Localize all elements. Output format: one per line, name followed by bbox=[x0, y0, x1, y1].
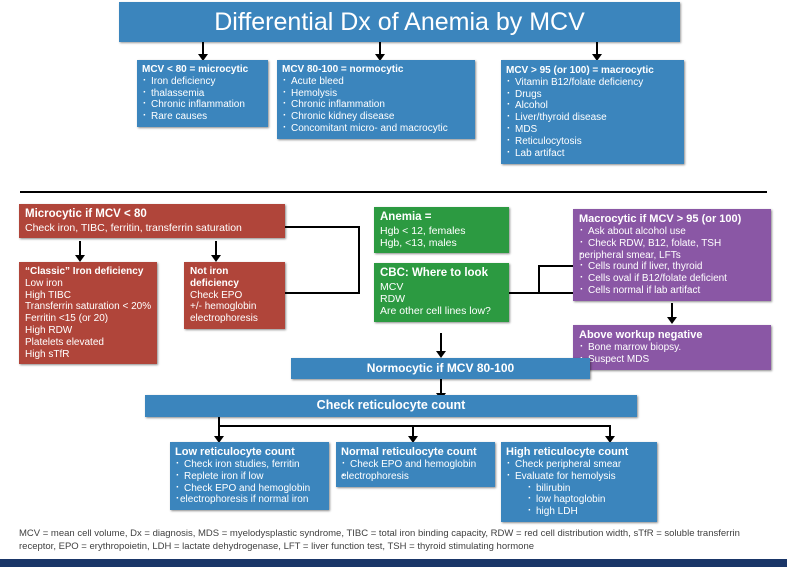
list-item: High TIBC bbox=[25, 290, 151, 302]
page-title: Differential Dx of Anemia by MCV bbox=[119, 2, 680, 42]
list-item-continuation: electrophoresis if normal iron bbox=[175, 494, 324, 506]
box-high-reticulocyte-count: High reticulocyte count Check peripheral… bbox=[501, 442, 657, 522]
list-item: electrophoresis bbox=[190, 313, 279, 325]
list-item: Chronic inflammation bbox=[142, 99, 263, 111]
list-item: Concomitant micro- and macrocytic bbox=[282, 123, 470, 135]
legend-line-2: receptor, EPO = erythropoietin, LDH = la… bbox=[19, 541, 771, 554]
box-header: “Classic” Iron deficiency bbox=[25, 266, 151, 278]
connector-microcytic-right bbox=[285, 226, 360, 228]
box-subitems: bilirubin low haptoglobin high LDH bbox=[506, 483, 652, 518]
box-cbc-where-to-look: CBC: Where to look MCV RDW Are other cel… bbox=[374, 263, 509, 322]
box-header: Macrocytic if MCV > 95 (or 100) bbox=[579, 213, 765, 226]
list-item: Hgb, <13, males bbox=[380, 237, 503, 249]
list-item-continuation: peripheral smear, LFTs bbox=[579, 250, 765, 262]
box-header: CBC: Where to look bbox=[380, 267, 503, 281]
list-item: Platelets elevated bbox=[25, 337, 151, 349]
list-item: Chronic inflammation bbox=[282, 99, 470, 111]
list-item: Hgb < 12, females bbox=[380, 225, 503, 237]
list-item: Check EPO bbox=[190, 290, 279, 302]
arrow-microcytic-to-not-iron bbox=[211, 255, 221, 262]
list-item: Cells normal if lab artifact bbox=[579, 285, 765, 297]
list-item: +/- hemoglobin bbox=[190, 301, 279, 313]
list-item: Acute bleed bbox=[282, 76, 470, 88]
connector-cbc-right bbox=[509, 292, 573, 294]
box-header: Above workup negative bbox=[579, 329, 765, 342]
list-item: Low iron bbox=[25, 278, 151, 290]
box-items: Vitamin B12/folate deficiency Drugs Alco… bbox=[506, 77, 679, 160]
list-item-continuation: electrophoresis bbox=[341, 471, 490, 483]
box-header: MCV > 95 (or 100) = macrocytic bbox=[506, 65, 679, 77]
list-item: Bone marrow biopsy. bbox=[579, 342, 765, 354]
box-header: Low reticulocyte count bbox=[175, 446, 324, 459]
list-item: Cells round if liver, thyroid bbox=[579, 261, 765, 273]
list-item: MDS bbox=[506, 124, 679, 136]
connector-cbc-to-normocytic bbox=[440, 333, 442, 353]
abbreviation-legend: MCV = mean cell volume, Dx = diagnosis, … bbox=[19, 528, 771, 554]
list-item: thalassemia bbox=[142, 88, 263, 100]
box-items: Check peripheral smear Evaluate for hemo… bbox=[506, 459, 652, 483]
arrow-macrocytic-to-workup-negative bbox=[667, 317, 677, 324]
box-normal-reticulocyte-count: Normal reticulocyte count Check EPO and … bbox=[336, 442, 495, 487]
box-mcv-macrocytic: MCV > 95 (or 100) = macrocytic Vitamin B… bbox=[501, 60, 684, 164]
list-item: Reticulocytosis bbox=[506, 136, 679, 148]
box-items: MCV RDW Are other cell lines low? bbox=[380, 281, 503, 318]
list-item: Hemolysis bbox=[282, 88, 470, 100]
box-check-reticulocyte-count: Check reticulocyte count bbox=[145, 395, 637, 417]
list-item: Ask about alcohol use bbox=[579, 226, 765, 238]
list-item: Check peripheral smear bbox=[506, 459, 652, 471]
list-item: RDW bbox=[380, 293, 503, 305]
box-header: Microcytic if MCV < 80 bbox=[25, 208, 279, 222]
box-items: Ask about alcohol use Check RDW, B12, fo… bbox=[579, 226, 765, 297]
box-header: Not iron deficiency bbox=[190, 266, 279, 290]
connector-cbc-to-macrocytic bbox=[538, 265, 573, 267]
list-item: Iron deficiency bbox=[142, 76, 263, 88]
list-item: Alcohol bbox=[506, 100, 679, 112]
list-item: Ferritin <15 (or 20) bbox=[25, 313, 151, 325]
footer-bar bbox=[0, 559, 787, 567]
box-items: Low iron High TIBC Transferrin saturatio… bbox=[25, 278, 151, 361]
connector-microcytic-down bbox=[358, 226, 360, 294]
box-mcv-microcytic: MCV < 80 = microcytic Iron deficiency th… bbox=[137, 60, 268, 127]
legend-line-1: MCV = mean cell volume, Dx = diagnosis, … bbox=[19, 528, 771, 541]
connector-microcytic-to-cbc bbox=[285, 292, 360, 294]
list-item: Chronic kidney disease bbox=[282, 111, 470, 123]
box-microcytic-workup: Microcytic if MCV < 80 Check iron, TIBC,… bbox=[19, 204, 285, 238]
arrow-microcytic-to-classic bbox=[75, 255, 85, 262]
box-items: Check EPO and hemoglobin electrophoresis bbox=[341, 459, 490, 483]
list-item: Drugs bbox=[506, 89, 679, 101]
connector-retic-horizontal bbox=[218, 425, 610, 427]
box-subtext: Check iron, TIBC, ferritin, transferrin … bbox=[25, 222, 279, 234]
box-anemia-definition: Anemia = Hgb < 12, females Hgb, <13, mal… bbox=[374, 207, 509, 253]
box-items: Acute bleed Hemolysis Chronic inflammati… bbox=[282, 76, 470, 135]
list-item: Liver/thyroid disease bbox=[506, 112, 679, 124]
arrow-cbc-to-normocytic bbox=[436, 351, 446, 358]
box-low-reticulocyte-count: Low reticulocyte count Check iron studie… bbox=[170, 442, 329, 510]
list-item: Check EPO and hemoglobin bbox=[175, 483, 324, 495]
box-classic-iron-deficiency: “Classic” Iron deficiency Low iron High … bbox=[19, 262, 157, 364]
box-not-iron-deficiency: Not iron deficiency Check EPO +/- hemogl… bbox=[184, 262, 285, 329]
list-item: Rare causes bbox=[142, 111, 263, 123]
list-item: Replete iron if low bbox=[175, 471, 324, 483]
section-divider bbox=[20, 191, 767, 193]
box-items: Iron deficiency thalassemia Chronic infl… bbox=[142, 76, 263, 123]
box-above-workup-negative: Above workup negative Bone marrow biopsy… bbox=[573, 325, 771, 370]
box-mcv-normocytic: MCV 80-100 = normocytic Acute bleed Hemo… bbox=[277, 60, 475, 139]
box-items: Check iron studies, ferritin Replete iro… bbox=[175, 459, 324, 506]
box-items: Check EPO +/- hemoglobin electrophoresis bbox=[190, 290, 279, 325]
box-header: MCV < 80 = microcytic bbox=[142, 64, 263, 76]
list-item: high LDH bbox=[506, 506, 652, 518]
list-item: High sTfR bbox=[25, 349, 151, 361]
box-header: Anemia = bbox=[380, 211, 503, 225]
box-normocytic-label: Normocytic if MCV 80-100 bbox=[291, 358, 590, 379]
list-item: Check iron studies, ferritin bbox=[175, 459, 324, 471]
list-item: MCV bbox=[380, 281, 503, 293]
list-item: Cells oval if B12/folate deficient bbox=[579, 273, 765, 285]
connector-cbc-up bbox=[538, 265, 540, 294]
box-header: High reticulocyte count bbox=[506, 446, 652, 459]
box-header: Normal reticulocyte count bbox=[341, 446, 490, 459]
box-items: Hgb < 12, females Hgb, <13, males bbox=[380, 225, 503, 250]
list-item: Check EPO and hemoglobin bbox=[341, 459, 490, 471]
list-item: Suspect MDS bbox=[579, 354, 765, 366]
list-item: Are other cell lines low? bbox=[380, 305, 503, 317]
list-item: Lab artifact bbox=[506, 148, 679, 160]
list-item: Transferrin saturation < 20% bbox=[25, 301, 151, 313]
box-macrocytic-workup: Macrocytic if MCV > 95 (or 100) Ask abou… bbox=[573, 209, 771, 301]
list-item: High RDW bbox=[25, 325, 151, 337]
list-item: Vitamin B12/folate deficiency bbox=[506, 77, 679, 89]
box-header: MCV 80-100 = normocytic bbox=[282, 64, 470, 76]
slide-canvas: Differential Dx of Anemia by MCV MCV < 8… bbox=[0, 0, 787, 567]
box-items: Bone marrow biopsy. Suspect MDS bbox=[579, 342, 765, 366]
list-item: Check RDW, B12, folate, TSH bbox=[579, 238, 765, 250]
